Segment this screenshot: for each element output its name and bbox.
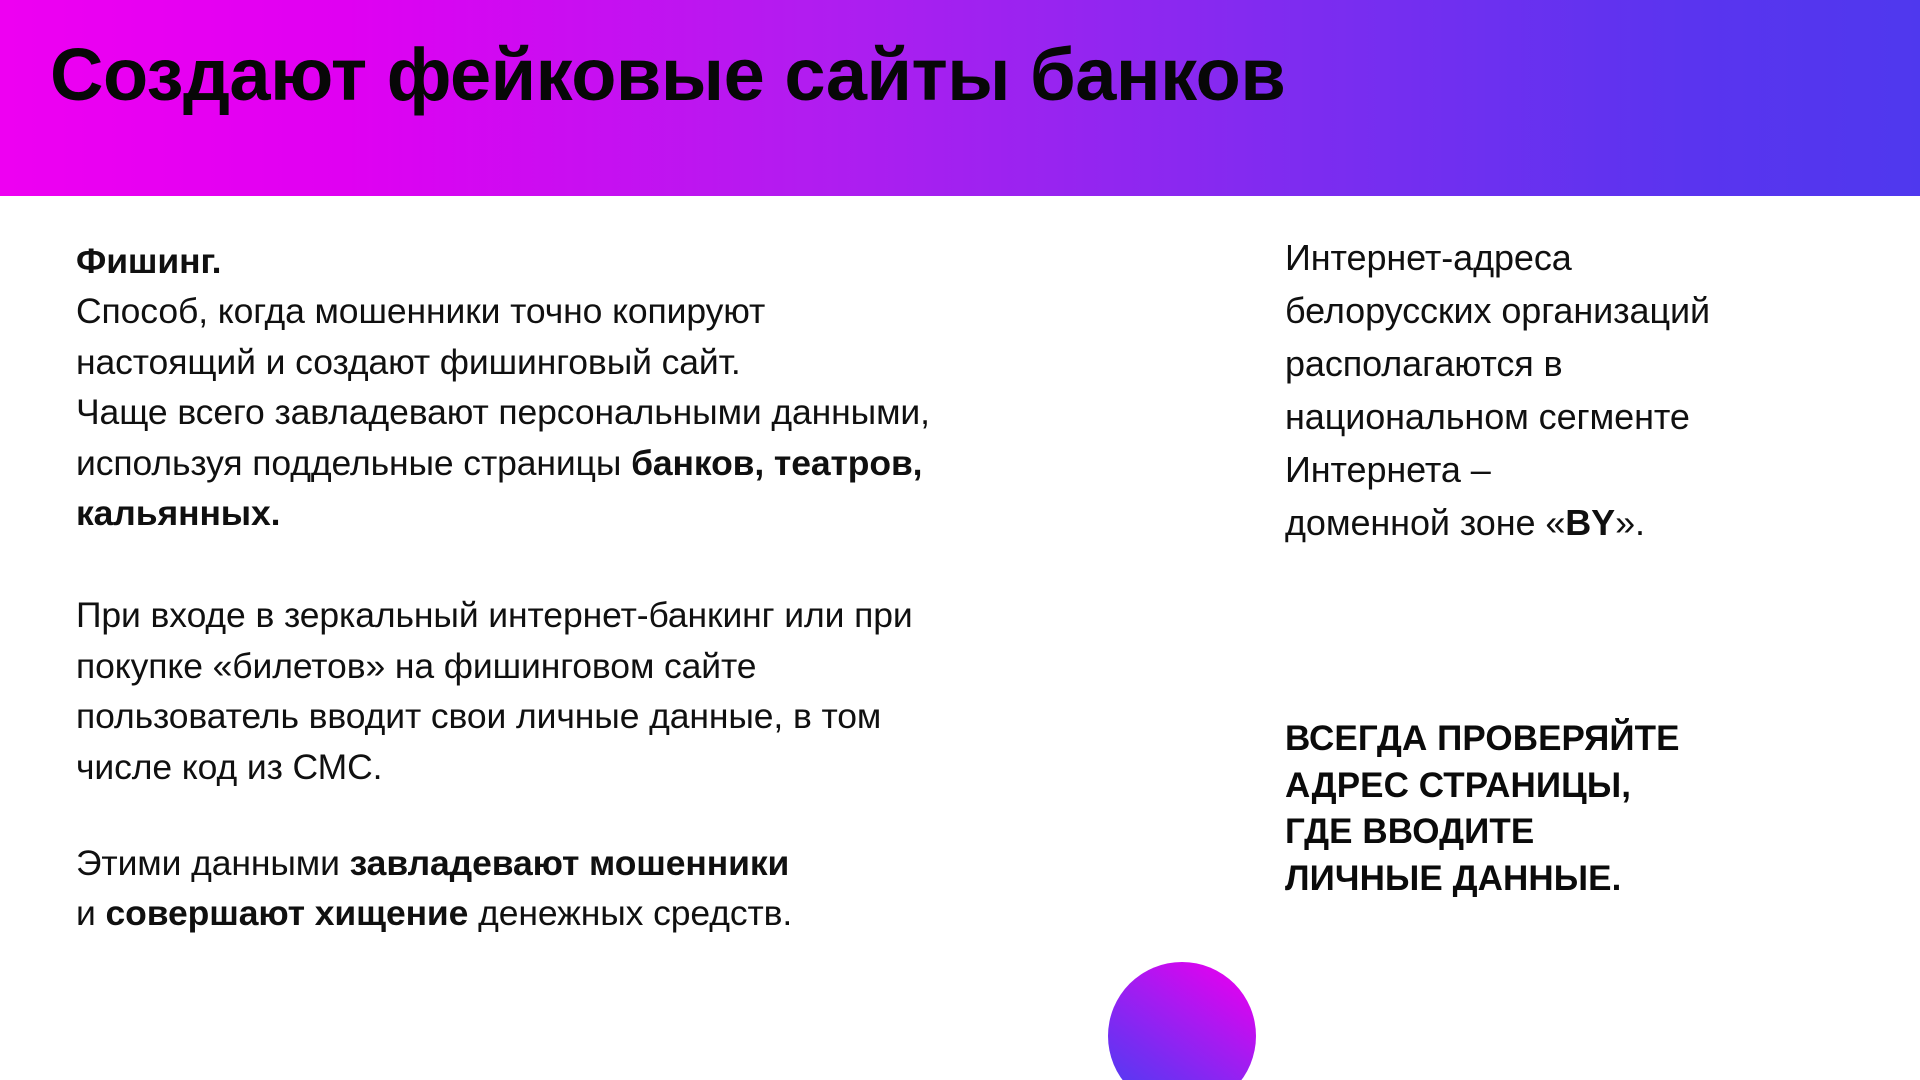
spacer-2 [76,792,1186,838]
login-scenario-block: При входе в зеркальный интернет-банкинг … [76,590,1186,792]
phishing-line-4-bold: банков, театров, [631,443,922,483]
phishing-heading-text: Фишинг. [76,241,221,281]
gradient-sphere-decoration [1108,962,1256,1080]
login-line-1: При входе в зеркальный интернет-банкинг … [76,590,1186,640]
domain-line-2: белорусских организаций [1285,285,1885,338]
theft-conclusion-block: Этими данными завладевают мошенники и со… [76,838,1186,939]
right-column: Интернет-адреса белорусских организаций … [1285,232,1885,549]
spacer-1 [76,538,1186,590]
warning-line-1: ВСЕГДА ПРОВЕРЯЙТЕ [1285,716,1905,763]
domain-line-6-plain-b: ». [1615,502,1645,543]
domain-info-block: Интернет-адреса белорусских организаций … [1285,232,1885,549]
warning-callout: ВСЕГДА ПРОВЕРЯЙТЕ АДРЕС СТРАНИЦЫ, ГДЕ ВВ… [1285,716,1905,902]
page-title: Создают фейковые сайты банков [50,34,1285,117]
left-column: Фишинг. Способ, когда мошенники точно ко… [76,236,1186,939]
phishing-line-4: используя поддельные страницы банков, те… [76,438,1186,488]
theft-line-2: и совершают хищение денежных средств. [76,888,1186,938]
login-line-4: числе код из СМС. [76,742,1186,792]
phishing-line-4-plain: используя поддельные страницы [76,443,631,483]
warning-line-3: ГДЕ ВВОДИТЕ [1285,809,1905,856]
domain-line-4: национальном сегменте [1285,391,1885,444]
domain-line-6-plain-a: доменной зоне « [1285,502,1565,543]
warning-line-2: АДРЕС СТРАНИЦЫ, [1285,763,1905,810]
slide-body: Фишинг. Способ, когда мошенники точно ко… [0,196,1920,1080]
domain-line-6: доменной зоне «BY». [1285,497,1885,550]
domain-zone-by: BY [1565,502,1615,543]
login-line-3: пользователь вводит свои личные данные, … [76,691,1186,741]
theft-line-1: Этими данными завладевают мошенники [76,838,1186,888]
phishing-line-3: Чаще всего завладевают персональными дан… [76,387,1186,437]
phishing-line-5-bold: кальянных. [76,493,280,533]
phishing-definition-block: Фишинг. Способ, когда мошенники точно ко… [76,236,1186,538]
header-banner: Создают фейковые сайты банков [0,0,1920,196]
theft-line-2-plain-b: денежных средств. [468,893,792,933]
phishing-heading: Фишинг. [76,236,1186,286]
theft-line-1-bold: завладевают мошенники [350,843,790,883]
phishing-line-1: Способ, когда мошенники точно копируют [76,286,1186,336]
warning-line-4: ЛИЧНЫЕ ДАННЫЕ. [1285,856,1905,903]
theft-line-2-plain-a: и [76,893,106,933]
domain-line-1: Интернет-адреса [1285,232,1885,285]
slide-root: Создают фейковые сайты банков Фишинг. Сп… [0,0,1920,1080]
phishing-line-2: настоящий и создают фишинговый сайт. [76,337,1186,387]
phishing-line-5: кальянных. [76,488,1186,538]
theft-line-1-plain: Этими данными [76,843,350,883]
login-line-2: покупке «билетов» на фишинговом сайте [76,641,1186,691]
theft-line-2-bold: совершают хищение [106,893,469,933]
domain-line-5: Интернета – [1285,444,1885,497]
domain-line-3: располагаются в [1285,338,1885,391]
